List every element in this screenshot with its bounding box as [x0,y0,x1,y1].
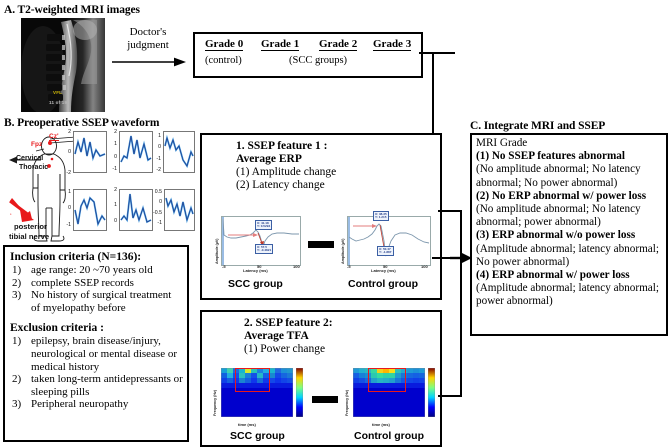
erp-control-trace [348,217,430,265]
exclusion-item-2-number: 2) [12,373,21,386]
tfa-plot-control: Frequency (Hz) [342,368,442,428]
feature2-header: 2. SSEP feature 2: Average TFA (1) Power… [202,312,440,356]
svg-text:s: s [10,212,12,216]
tfa-scc-colorbar [296,368,303,417]
feature2-title-line1: 2. SSEP feature 2: [244,317,440,330]
feature1-bullet-2: (2) Latency change [236,179,440,192]
erp-control-xtick-2: 100 [421,264,428,269]
exclusion-criteria-title: Exclusion criteria : [10,322,183,334]
integrate-item-2-title: (2) No ERP abnormal w/ power loss [476,190,663,203]
tfa-control-roi-box [368,368,406,392]
integrate-item-4-title: (4) ERP abnormal w/ power loss [476,269,663,282]
doctors-judgment-line2: judgment [103,39,193,52]
mini-waveform-grid: 2 0 -2 2 1 0 -1 1 0 -1 [62,130,192,238]
exclusion-item-3-text: Peripheral neuropathy [31,398,128,410]
integrate-header: MRI Grade [476,137,663,150]
inclusion-item-3-text: No history of surgical treatment of myel… [31,289,171,314]
integrate-item-1-detail: (No amplitude abnormal; No latency abnor… [476,163,663,189]
minus-sign-icon [308,241,334,248]
exclusion-item-1-number: 1) [12,335,21,348]
mri-overlay-slice: 11 of 19 [49,100,67,105]
inclusion-item-2-number: 2) [12,277,21,290]
grade-scc-label: (SCC groups) [289,55,347,66]
integrate-item-4-detail: (Amplitude abnormal; latency abnormal; p… [476,282,663,308]
tfa-scc-ylabel: Frequency (Hz) [213,390,217,416]
grade-0-header: Grade 0 [205,38,243,51]
erp-scc-datatip-peak: X: 41.18Y: 0.5294 [255,220,272,230]
erp-scc-xtick-0: -5 [222,264,226,269]
connector-grade-horizontal [419,52,455,54]
criteria-box: Inclusion criteria (N=136): 1)age range:… [3,245,189,442]
integrate-item-1-title: (1) No SSEP features abnormal [476,150,663,163]
inclusion-item-3-number: 3) [12,289,21,302]
feature1-title-line1: 1. SSEP feature 1 : [236,140,440,153]
erp-scc-xlabel: Latency (ms) [243,268,268,273]
mini-waveform-4-yticks: 1 0 -1 [62,190,71,228]
erp-control-ylabel: Amplitude (µV) [341,239,345,264]
integrate-item-3-title: (3) ERP abnormal w/o power loss [476,229,663,242]
tfa-control-colorbar [428,368,435,417]
grade-3-header: Grade 3 [373,38,411,51]
integrate-box: MRI Grade (1) No SSEP features abnormal … [470,133,668,336]
connector-feature-vertical [460,210,462,397]
list-item: 3) Peripheral neuropathy [10,398,183,411]
electrode-fpz-label: Fpz [31,141,42,148]
list-item: 2)complete SSEP records [10,277,183,290]
mini-waveform-1-yticks: 2 0 -2 [62,130,71,176]
grade-1-header: Grade 1 [261,38,299,51]
right-arrow-icon [112,57,186,67]
list-item: 2)taken long-term antidepressants or sle… [10,373,183,398]
mini-waveform-6-yticks: 0.5 0 -0.5 -1 [149,190,162,227]
exclusion-item-1-text: epilepsy, brain disease/injury, neurolog… [31,335,177,372]
feature2-left-group-label: SCC group [230,430,285,442]
connector-feature2 [438,395,462,397]
exclusion-criteria-list: 1)epilepsy, brain disease/injury, neurol… [10,335,183,411]
exclusion-item-3-number: 3) [12,398,21,411]
integrate-item-2-detail: (No amplitude abnormal; No latency abnor… [476,203,663,229]
erp-control-xtick-0: -5 [347,264,351,269]
erp-scc-datatip-trough: X: 57.5Y: -0.4821 [255,244,273,254]
inclusion-item-2-text: complete SSEP records [31,277,134,289]
erp-plot-scc: Amplitude (µV) X: 41.18Y: 0.5294 X: 57.5… [211,216,303,276]
doctors-judgment-line1: Doctor's [103,26,193,39]
exclusion-item-2-text: taken long-term antidepressants or sleep… [31,373,183,398]
list-item: 3)No history of surgical treatment of my… [10,289,183,314]
erp-control-datatip-trough: X: 50.47Y: -1.887 [377,246,394,256]
mini-waveform-4-trace [74,190,106,230]
mini-waveform-6-trace [165,190,194,230]
mri-image: VFL 11 of 19 [21,18,105,112]
feature2-bullet-1: (1) Power change [244,343,440,356]
list-item: 1)epilepsy, brain disease/injury, neurol… [10,335,183,373]
thoracic-label: Thoracic [19,164,48,171]
feature1-title-line2: Average ERP [236,153,440,166]
doctors-judgment-label: Doctor's judgment [103,26,193,51]
feature2-box: 2. SSEP feature 2: Average TFA (1) Power… [200,310,442,447]
grade-box: Grade 0 Grade 1 Grade 2 Grade 3 (control… [193,32,423,78]
mri-overlay-label: VFL [53,90,62,95]
mri-image-graphic [21,18,105,112]
minus-sign-icon-2 [312,396,338,403]
connector-feature1 [438,210,462,212]
feature1-left-group-label: SCC group [228,278,283,290]
posterior-tibial-nerve-label-line1: posterior [14,222,47,231]
feature1-bullet-1: (1) Amplitude change [236,166,440,179]
posterior-tibial-nerve-label-line2: tibial nerve [9,232,49,241]
erp-control-datatip-peak: X: 38.35Y: 1.215 [373,211,389,221]
mini-waveform-3-trace [164,132,194,172]
grade-2-header: Grade 2 [319,38,357,51]
feature1-right-group-label: Control group [348,278,418,290]
tfa-scc-roi-box [235,368,270,392]
grade-control-label: (control) [205,55,242,66]
section-a-title: A. T2-weighted MRI images [4,4,140,16]
erp-scc-xtick-1: 50 [257,264,261,269]
electrode-cz-label: Cz' [49,133,59,141]
feature2-right-group-label: Control group [354,430,424,442]
mini-waveform-2-yticks: 2 1 0 -1 [108,130,117,173]
criteria-spacer [10,314,183,322]
mini-waveform-1-trace [74,132,106,172]
erp-plot-control: Amplitude (µV) X: 38.35Y: 1.215 X: 50.47… [337,216,433,276]
tfa-scc-xlabel: time (ms) [238,422,256,427]
feature2-title-line2: Average TFA [244,330,440,343]
feature1-box: 1. SSEP feature 1 : Average ERP (1) Ampl… [200,133,442,300]
tfa-plot-scc: Frequency (Hz) [210,368,310,428]
erp-control-xtick-1: 50 [383,264,387,269]
integrate-item-3-detail: (Amplitude abnormal; latency abnormal; N… [476,243,663,269]
tfa-control-ylabel: Frequency (Hz) [345,390,349,416]
inclusion-criteria-list: 1)age range: 20 ~70 years old 2)complete… [10,264,183,314]
mini-waveform-3-yticks: 1 0 -1 -2 [152,134,161,174]
mini-waveform-2-trace [120,132,152,172]
cervical-label: Cervical [16,155,43,162]
inclusion-item-1-number: 1) [12,264,21,277]
tfa-control-xlabel: time (ms) [372,422,390,427]
section-c-title: C. Integrate MRI and SSEP [470,120,605,132]
inclusion-item-1-text: age range: 20 ~70 years old [31,264,153,276]
section-b-title: B. Preoperative SSEP waveform [4,117,159,129]
erp-scc-xtick-2: 100 [293,264,300,269]
mini-waveform-5-trace [120,190,152,230]
erp-scc-ylabel: Amplitude (µV) [215,239,219,264]
mini-waveform-5-yticks: 2 1 0 [108,188,117,224]
list-item: 1)age range: 20 ~70 years old [10,264,183,277]
inclusion-criteria-title: Inclusion criteria (N=136): [10,251,183,263]
feature1-header: 1. SSEP feature 1 : Average ERP (1) Ampl… [202,135,440,192]
